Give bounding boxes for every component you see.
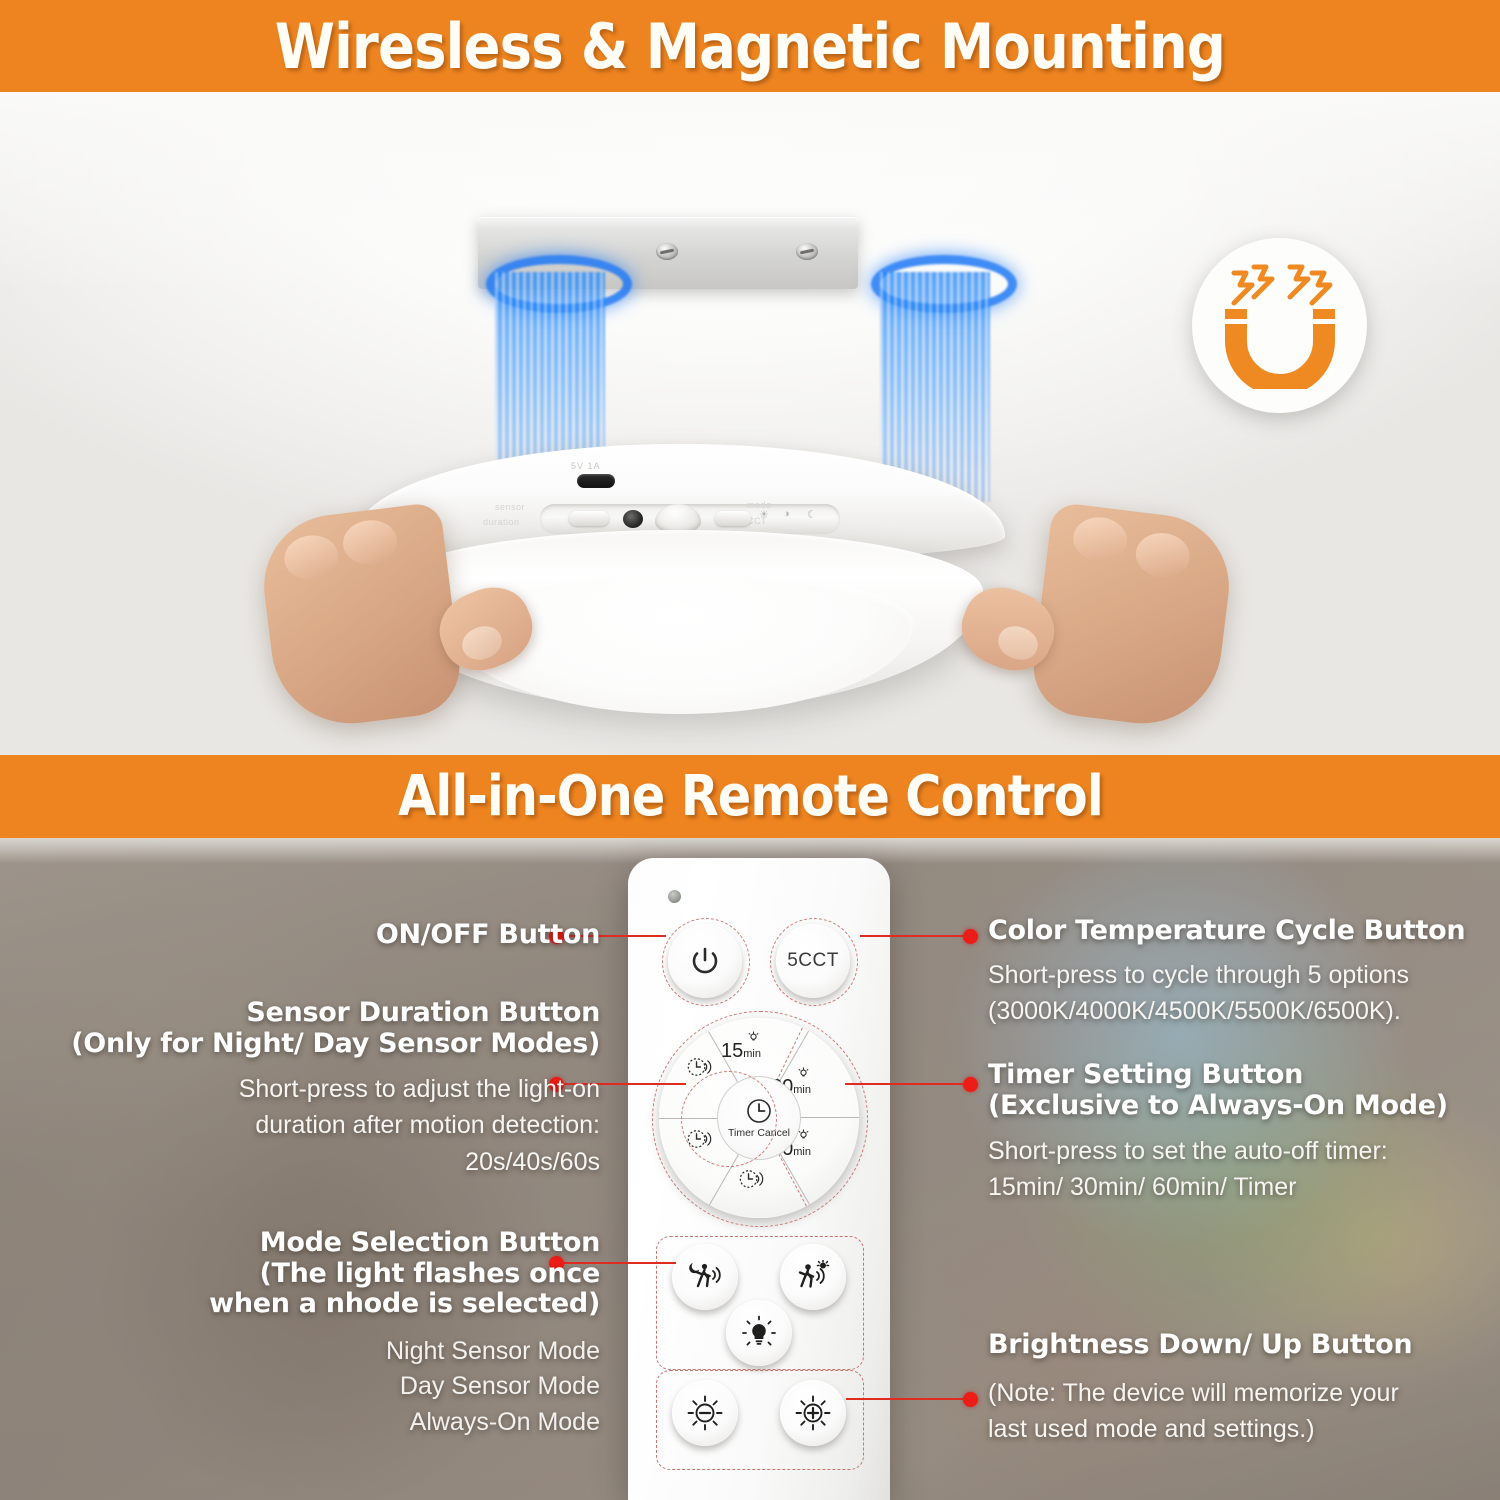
dial-label-15min[interactable]: 15min xyxy=(721,1040,761,1063)
callout-mode-title-2: (The light flashes once xyxy=(60,1259,600,1290)
always-on-mode-button[interactable] xyxy=(726,1300,792,1366)
leader-line-brightness xyxy=(846,1398,978,1400)
leader-line-timer xyxy=(845,1083,978,1085)
edge-label-sensor: sensor xyxy=(495,502,525,512)
callout-onoff-title: ON/OFF Button xyxy=(180,920,600,951)
callout-sensor-title-1: Sensor Duration Button xyxy=(60,998,600,1029)
mode-list-item: Night Sensor Mode xyxy=(60,1334,600,1370)
callout-brightness-body-2: last used mode and settings.) xyxy=(988,1411,1488,1447)
sun-motion-icon xyxy=(793,1260,833,1294)
magnet-badge xyxy=(1192,238,1367,413)
leader-dot-cct xyxy=(963,929,978,944)
mounting-photo: 5V 1A sensor duration mode CCT ☀ ◑ ☾ xyxy=(0,92,1500,755)
callout-cct-body-1: Short-press to cycle through 5 options xyxy=(988,957,1488,993)
edge-label-duration: duration xyxy=(483,517,520,527)
callout-mode-title-1: Mode Selection Button xyxy=(60,1228,600,1259)
brightness-up-button[interactable] xyxy=(780,1380,846,1446)
callout-sensor-body-1: Short-press to adjust the light-on xyxy=(60,1071,600,1107)
top-banner: Wiresless & Magnetic Mounting xyxy=(0,0,1500,92)
sun-minus-icon xyxy=(686,1394,724,1432)
callout-timer-body-1: Short-press to set the auto-off timer: xyxy=(988,1133,1488,1169)
right-hand xyxy=(1028,502,1237,733)
callout-mode-selection: Mode Selection Button (The light flashes… xyxy=(60,1228,600,1440)
remote-control-section: 5CCT 15min xyxy=(0,838,1500,1500)
callout-sensor-title-2: (Only for Night/ Day Sensor Modes) xyxy=(60,1029,600,1060)
brightness-glyph-icon: ☀ xyxy=(759,508,769,521)
callout-brightness-title: Brightness Down/ Up Button xyxy=(988,1330,1488,1361)
magnet-u-icon xyxy=(1220,263,1340,389)
remote-control[interactable]: 5CCT 15min xyxy=(628,858,890,1500)
day-sensor-mode-button[interactable] xyxy=(780,1244,846,1310)
callout-sensor-body-2: duration after motion detection: xyxy=(60,1107,600,1143)
light-sensor-icon xyxy=(623,510,643,528)
led-ceiling-light: 5V 1A sensor duration mode CCT ☀ ◑ ☾ xyxy=(355,444,1005,755)
callout-sensor-body-3: 20s/40s/60s xyxy=(60,1144,600,1180)
sensor-switch xyxy=(569,511,609,526)
left-hand xyxy=(256,502,465,733)
color-temperature-button[interactable]: 5CCT xyxy=(776,924,850,998)
mount-screw xyxy=(656,243,678,260)
bulb-timer-icon xyxy=(747,1031,760,1044)
bulb-icon xyxy=(741,1315,777,1351)
brightness-down-button[interactable] xyxy=(672,1380,738,1446)
leader-line-cct xyxy=(860,935,978,937)
callout-brightness-body-1: (Note: The device will memorize your xyxy=(988,1375,1488,1411)
callout-color-temperature: Color Temperature Cycle Button Short-pre… xyxy=(988,916,1488,1029)
power-button[interactable] xyxy=(668,924,742,998)
callout-timer-title-2: (Exclusive to Always-On Mode) xyxy=(988,1091,1488,1122)
cct-button-label: 5CCT xyxy=(787,950,839,972)
half-brightness-glyph-icon: ◑ xyxy=(783,508,790,520)
callout-onoff: ON/OFF Button xyxy=(180,920,600,951)
power-icon xyxy=(688,944,722,978)
leader-dot-brightness xyxy=(963,1392,978,1407)
top-banner-title: Wiresless & Magnetic Mounting xyxy=(275,10,1225,83)
callout-timer-title-1: Timer Setting Button xyxy=(988,1060,1488,1091)
usb-label: 5V 1A xyxy=(571,461,601,471)
sun-plus-icon xyxy=(794,1394,832,1432)
bulb-timer-icon xyxy=(797,1067,810,1080)
ir-led-indicator xyxy=(668,890,681,903)
infographic-page: Wiresless & Magnetic Mounting 5V 1A sens… xyxy=(0,0,1500,1500)
night-sensor-mode-button[interactable] xyxy=(672,1244,738,1310)
callout-timer-body-2: 15min/ 30min/ 60min/ Timer xyxy=(988,1169,1488,1205)
callout-cct-body-2: (3000K/4000K/4500K/5500K/6500K). xyxy=(988,993,1488,1029)
callout-sensor-duration: Sensor Duration Button (Only for Night/ … xyxy=(60,998,600,1180)
timer-cancel-highlight xyxy=(681,1071,777,1167)
callout-mode-title-3: when a nhode is selected) xyxy=(60,1289,600,1320)
mode-list-item: Always-On Mode xyxy=(60,1405,600,1441)
callout-timer-setting: Timer Setting Button (Exclusive to Alway… xyxy=(988,1060,1488,1206)
moon-glyph-icon: ☾ xyxy=(807,508,817,521)
mode-list-item: Day Sensor Mode xyxy=(60,1369,600,1405)
moon-motion-icon xyxy=(685,1260,725,1294)
sensor-duration-icon xyxy=(737,1166,767,1192)
mount-screw xyxy=(796,243,818,260)
middle-banner: All-in-One Remote Control xyxy=(0,755,1500,838)
callout-cct-title: Color Temperature Cycle Button xyxy=(988,916,1488,947)
mode-switch xyxy=(715,511,751,526)
middle-banner-title: All-in-One Remote Control xyxy=(398,764,1103,829)
leader-dot-timer xyxy=(963,1077,978,1092)
callout-brightness: Brightness Down/ Up Button (Note: The de… xyxy=(988,1330,1488,1447)
usb-c-port-icon xyxy=(577,474,615,488)
